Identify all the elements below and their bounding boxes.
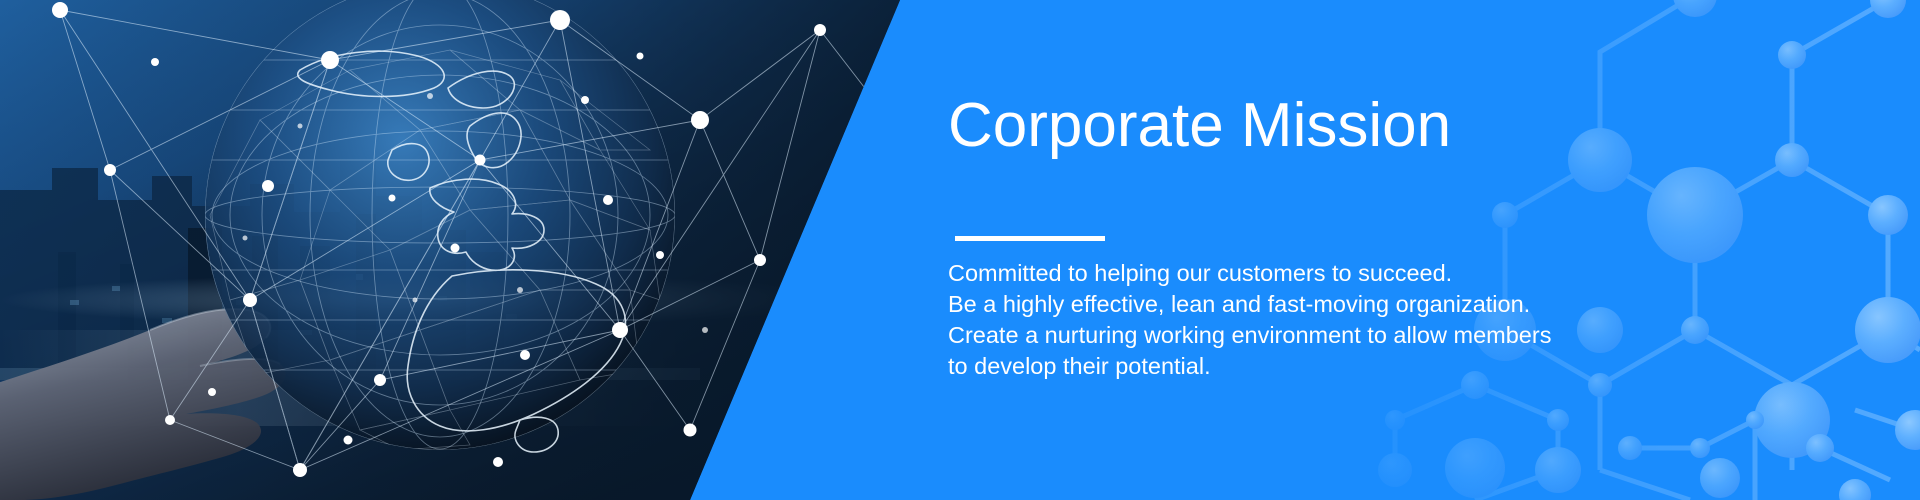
page-title: Corporate Mission <box>948 92 1451 160</box>
mission-line-1: Committed to helping our customers to su… <box>948 258 1708 289</box>
title-divider <box>955 236 1105 241</box>
mission-description: Committed to helping our customers to su… <box>948 258 1708 382</box>
mission-line-2: Be a highly effective, lean and fast-mov… <box>948 289 1708 320</box>
mission-line-4: to develop their potential. <box>948 351 1708 382</box>
corporate-mission-banner: Corporate Mission Committed to helping o… <box>0 0 1920 500</box>
mission-line-3: Create a nurturing working environment t… <box>948 320 1708 351</box>
banner-text-content: Corporate Mission Committed to helping o… <box>948 0 1768 500</box>
